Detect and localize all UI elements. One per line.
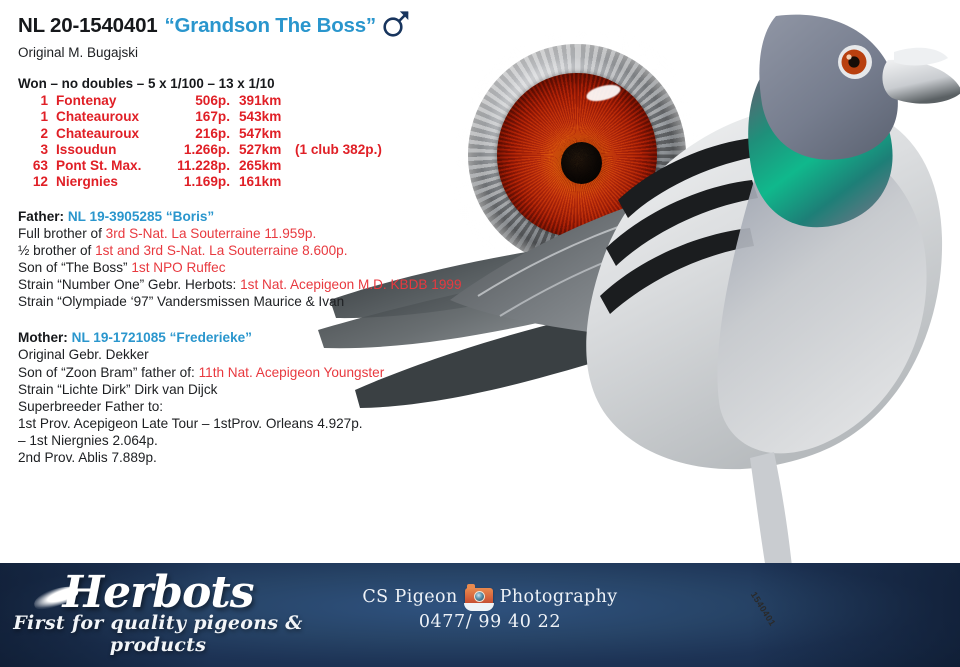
result-birds: 506p.: [168, 93, 239, 109]
result-race: Pont St. Max.: [56, 158, 168, 174]
result-position: 12: [18, 174, 56, 190]
result-birds: 1.266p.: [168, 142, 239, 158]
mother-ring: NL 19-1721085 “Frederieke”: [72, 330, 252, 345]
result-distance: 527km: [239, 142, 295, 158]
father-section: Father: NL 19-3905285 “Boris” Full broth…: [18, 208, 518, 311]
father-line-1-red: 3rd S-Nat. La Souterraine 11.959p.: [106, 226, 317, 241]
father-line-4-black: Strain “Number One” Gebr. Herbots:: [18, 277, 240, 292]
credit-name-part2: Photography: [500, 587, 618, 607]
mother-line-4: Superbreeder Father to:: [18, 398, 518, 415]
mother-line-3: Strain “Lichte Dirk” Dirk van Dijck: [18, 381, 518, 398]
result-distance: 161km: [239, 174, 295, 190]
result-race: Chateauroux: [56, 126, 168, 142]
credit-name-part1: CS Pigeon: [362, 587, 457, 607]
father-line-1-black: Full brother of: [18, 226, 106, 241]
father-line-3-red: 1st NPO Ruffec: [131, 260, 225, 275]
camera-base: [464, 603, 494, 611]
pedigree-text-column: NL 20-1540401 “Grandson The Boss” Origin…: [18, 8, 518, 466]
table-row: 1 Chateauroux 167p. 543km: [18, 109, 518, 125]
table-row: 1 Fontenay 506p. 391km: [18, 93, 518, 109]
result-birds: 1.169p.: [168, 174, 239, 190]
page-title: NL 20-1540401 “Grandson The Boss”: [18, 8, 518, 43]
herbots-logo: Herbots First for quality pigeons & prod…: [8, 567, 308, 656]
result-race: Niergnies: [56, 174, 168, 190]
camera-icon: [465, 588, 493, 607]
father-line-1: Full brother of 3rd S-Nat. La Souterrain…: [18, 225, 518, 242]
father-line-4-red: 1st Nat. Acepigeon M.D. KBDB 1999: [240, 277, 461, 292]
pedigree-card: NL 20-1540401 “Grandson The Boss” Origin…: [0, 0, 960, 667]
result-position: 1: [18, 109, 56, 125]
father-line-2-black: ½ brother of: [18, 243, 95, 258]
father-line-3-black: Son of “The Boss”: [18, 260, 131, 275]
result-position: 1: [18, 93, 56, 109]
mother-line-2: Son of “Zoon Bram” father of: 11th Nat. …: [18, 364, 518, 381]
herbots-logo-text: Herbots: [63, 567, 254, 618]
herbots-logo-name: Herbots: [63, 567, 254, 618]
father-line-3: Son of “The Boss” 1st NPO Ruffec: [18, 259, 518, 276]
ring-number: NL 20-1540401: [18, 14, 158, 38]
footer-banner: Herbots First for quality pigeons & prod…: [0, 563, 960, 667]
mother-line-1: Original Gebr. Dekker: [18, 346, 518, 363]
mother-line-2-black: Son of “Zoon Bram” father of:: [18, 365, 199, 380]
result-position: 63: [18, 158, 56, 174]
herbots-tagline: First for quality pigeons & products: [8, 612, 308, 656]
result-distance: 265km: [239, 158, 295, 174]
result-distance: 547km: [239, 126, 295, 142]
mother-label: Mother:: [18, 330, 68, 345]
result-distance: 543km: [239, 109, 295, 125]
table-row: 3 Issoudun 1.266p. 527km (1 club 382p.): [18, 142, 518, 158]
result-race: Issoudun: [56, 142, 168, 158]
father-line-2-red: 1st and 3rd S-Nat. La Souterraine 8.600p…: [95, 243, 347, 258]
photography-credit: CS Pigeon Photography 0477/ 99 40 22: [330, 587, 650, 632]
result-race: Fontenay: [56, 93, 168, 109]
result-birds: 11.228p.: [168, 158, 239, 174]
mother-section: Mother: NL 19-1721085 “Frederieke” Origi…: [18, 329, 518, 466]
father-ring: NL 19-3905285 “Boris”: [68, 209, 214, 224]
results-heading: Won – no doubles – 5 x 1/100 – 13 x 1/10: [18, 76, 518, 91]
mother-line-2-red: 11th Nat. Acepigeon Youngster: [199, 365, 385, 380]
father-line-5: Strain “Olympiade ‘97” Vandersmissen Mau…: [18, 293, 518, 310]
result-birds: 216p.: [168, 126, 239, 142]
father-line-4: Strain “Number One” Gebr. Herbots: 1st N…: [18, 276, 518, 293]
male-symbol-icon: [381, 8, 411, 43]
pigeon-beak: [882, 60, 960, 104]
result-distance: 391km: [239, 93, 295, 109]
credit-line: CS Pigeon Photography: [330, 587, 650, 607]
results-table: Won – no doubles – 5 x 1/100 – 13 x 1/10…: [18, 76, 518, 191]
table-row: 12 Niergnies 1.169p. 161km: [18, 174, 518, 190]
mother-line-5: 1st Prov. Acepigeon Late Tour – 1stProv.…: [18, 415, 518, 432]
father-label: Father:: [18, 209, 64, 224]
credit-phone: 0477/ 99 40 22: [330, 612, 650, 632]
father-line-2: ½ brother of 1st and 3rd S-Nat. La Soute…: [18, 242, 518, 259]
result-note: (1 club 382p.): [295, 142, 382, 158]
result-race: Chateauroux: [56, 109, 168, 125]
result-birds: 167p.: [168, 109, 239, 125]
pigeon-head: [759, 15, 898, 160]
result-position: 2: [18, 126, 56, 142]
result-position: 3: [18, 142, 56, 158]
table-row: 63 Pont St. Max. 11.228p. 265km: [18, 158, 518, 174]
mother-heading: Mother: NL 19-1721085 “Frederieke”: [18, 329, 518, 346]
bird-name: “Grandson The Boss”: [165, 14, 376, 38]
breeder-line: Original M. Bugajski: [18, 45, 518, 60]
mother-line-7: 2nd Prov. Ablis 7.889p.: [18, 449, 518, 466]
table-row: 2 Chateauroux 216p. 547km: [18, 126, 518, 142]
mother-line-6: – 1st Niergnies 2.064p.: [18, 432, 518, 449]
father-heading: Father: NL 19-3905285 “Boris”: [18, 208, 518, 225]
